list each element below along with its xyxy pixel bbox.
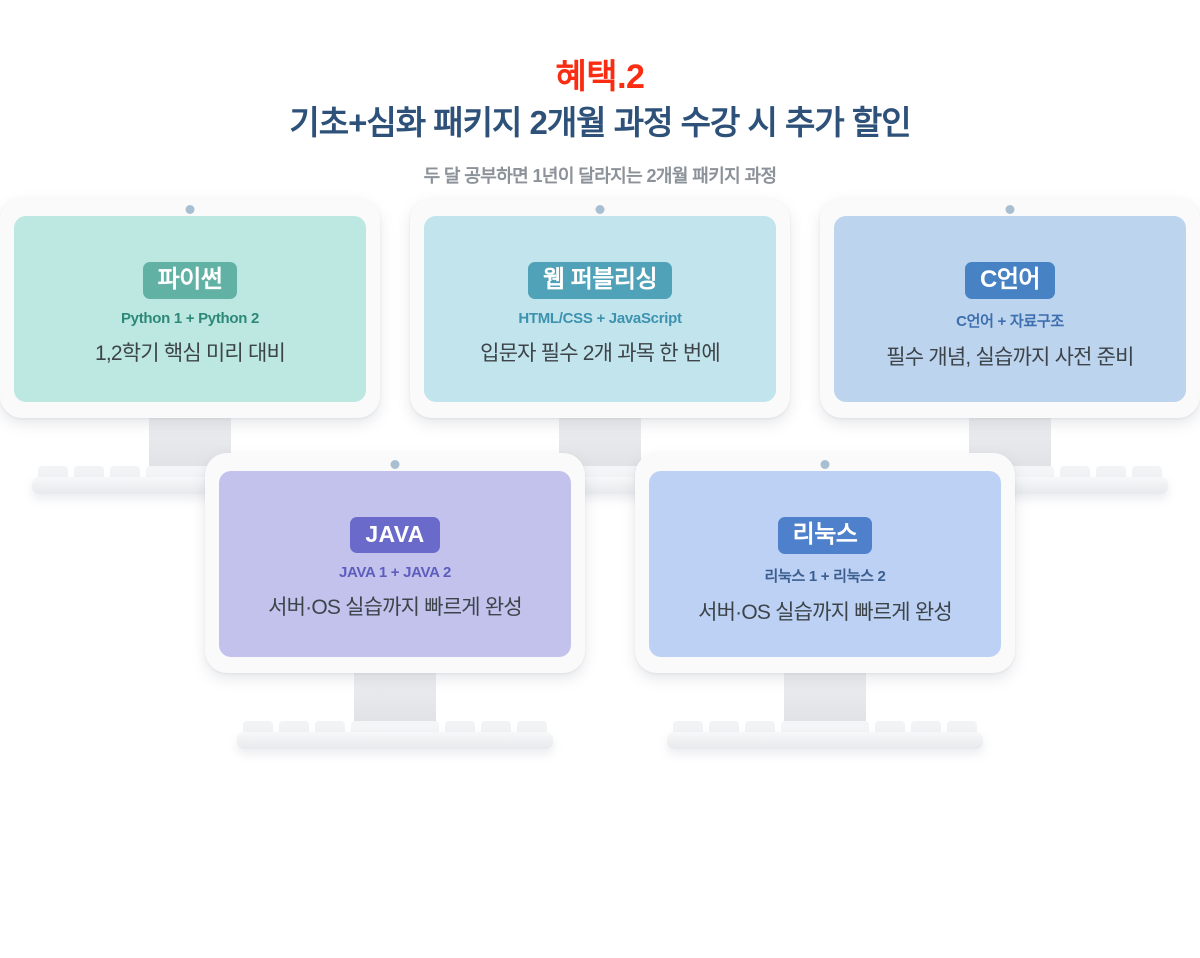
- course-desc: 입문자 필수 2개 과목 한 번에: [480, 337, 720, 367]
- keyboard-base: [237, 732, 553, 749]
- webcam-dot-icon: [821, 460, 830, 469]
- webcam-dot-icon: [391, 460, 400, 469]
- course-subject: JAVA 1 + JAVA 2: [339, 564, 451, 581]
- promo-header: 혜택.2 기초+심화 패키지 2개월 과정 수강 시 추가 할인 두 달 공부하…: [0, 0, 1200, 188]
- promo-headline: 기초+심화 패키지 2개월 과정 수강 시 추가 할인: [0, 101, 1200, 146]
- course-subject: C언어 + 자료구조: [956, 310, 1064, 331]
- promo-eyebrow: 혜택.2: [0, 58, 1200, 97]
- monitor-bezel: 리눅스 리눅스 1 + 리눅스 2 서버·OS 실습까지 빠르게 완성: [635, 453, 1015, 673]
- keyboard: [243, 721, 547, 755]
- course-desc: 서버·OS 실습까지 빠르게 완성: [268, 591, 522, 621]
- course-badge: 웹 퍼블리싱: [528, 262, 672, 300]
- monitor-neck: [784, 673, 866, 727]
- monitor-screen: C언어 C언어 + 자료구조 필수 개념, 실습까지 사전 준비: [834, 216, 1186, 402]
- course-subject: 리눅스 1 + 리눅스 2: [764, 565, 885, 586]
- course-desc: 1,2학기 핵심 미리 대비: [95, 337, 285, 367]
- course-badge: JAVA: [350, 517, 439, 553]
- monitor-bezel: 파이썬 Python 1 + Python 2 1,2학기 핵심 미리 대비: [0, 198, 380, 418]
- monitor-screen: 파이썬 Python 1 + Python 2 1,2학기 핵심 미리 대비: [14, 216, 366, 402]
- course-badge: 파이썬: [143, 262, 238, 300]
- monitor-bezel: 웹 퍼블리싱 HTML/CSS + JavaScript 입문자 필수 2개 과…: [410, 198, 790, 418]
- monitor-screen: 웹 퍼블리싱 HTML/CSS + JavaScript 입문자 필수 2개 과…: [424, 216, 776, 402]
- promo-subline: 두 달 공부하면 1년이 달라지는 2개월 패키지 과정: [0, 162, 1200, 188]
- monitor-bezel: C언어 C언어 + 자료구조 필수 개념, 실습까지 사전 준비: [820, 198, 1200, 418]
- course-badge: C언어: [965, 262, 1055, 300]
- course-monitor-stage: 파이썬 Python 1 + Python 2 1,2학기 핵심 미리 대비: [0, 188, 1200, 888]
- course-card-linux[interactable]: 리눅스 리눅스 1 + 리눅스 2 서버·OS 실습까지 빠르게 완성: [635, 453, 1015, 763]
- course-badge: 리눅스: [778, 517, 873, 555]
- monitor-neck: [354, 673, 436, 727]
- monitor-bezel: JAVA JAVA 1 + JAVA 2 서버·OS 실습까지 빠르게 완성: [205, 453, 585, 673]
- monitor-screen: 리눅스 리눅스 1 + 리눅스 2 서버·OS 실습까지 빠르게 완성: [649, 471, 1001, 657]
- monitor-screen: JAVA JAVA 1 + JAVA 2 서버·OS 실습까지 빠르게 완성: [219, 471, 571, 657]
- webcam-dot-icon: [186, 205, 195, 214]
- course-subject: Python 1 + Python 2: [121, 310, 259, 327]
- webcam-dot-icon: [596, 205, 605, 214]
- keyboard: [673, 721, 977, 755]
- course-desc: 서버·OS 실습까지 빠르게 완성: [698, 596, 952, 626]
- course-desc: 필수 개념, 실습까지 사전 준비: [886, 341, 1133, 371]
- keyboard-base: [667, 732, 983, 749]
- monitor-stand-and-keyboard: [205, 673, 585, 763]
- webcam-dot-icon: [1006, 205, 1015, 214]
- course-card-java[interactable]: JAVA JAVA 1 + JAVA 2 서버·OS 실습까지 빠르게 완성: [205, 453, 585, 763]
- course-subject: HTML/CSS + JavaScript: [518, 310, 681, 327]
- monitor-stand-and-keyboard: [635, 673, 1015, 763]
